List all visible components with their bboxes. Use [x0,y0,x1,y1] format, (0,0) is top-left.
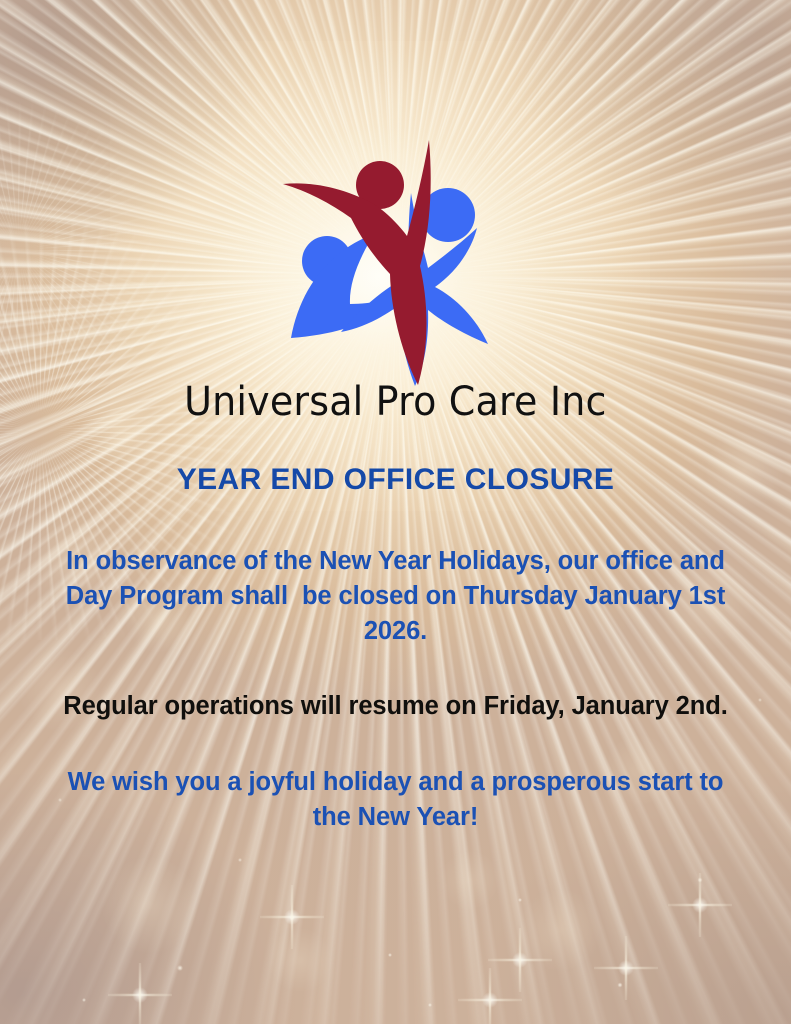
company-name: Universal Pro Care Inc [184,382,606,422]
company-logo [278,138,514,388]
resume-operations-paragraph: Regular operations will resume on Friday… [62,689,730,724]
closure-announcement-paragraph: In observance of the New Year Holidays, … [62,544,730,650]
holiday-wishes-paragraph: We wish you a joyful holiday and a prosp… [62,765,730,835]
poster-content: Universal Pro Care Inc YEAR END OFFICE C… [0,0,791,1024]
page-title: YEAR END OFFICE CLOSURE [177,465,615,495]
closure-notice-poster: Universal Pro Care Inc YEAR END OFFICE C… [0,0,791,1024]
